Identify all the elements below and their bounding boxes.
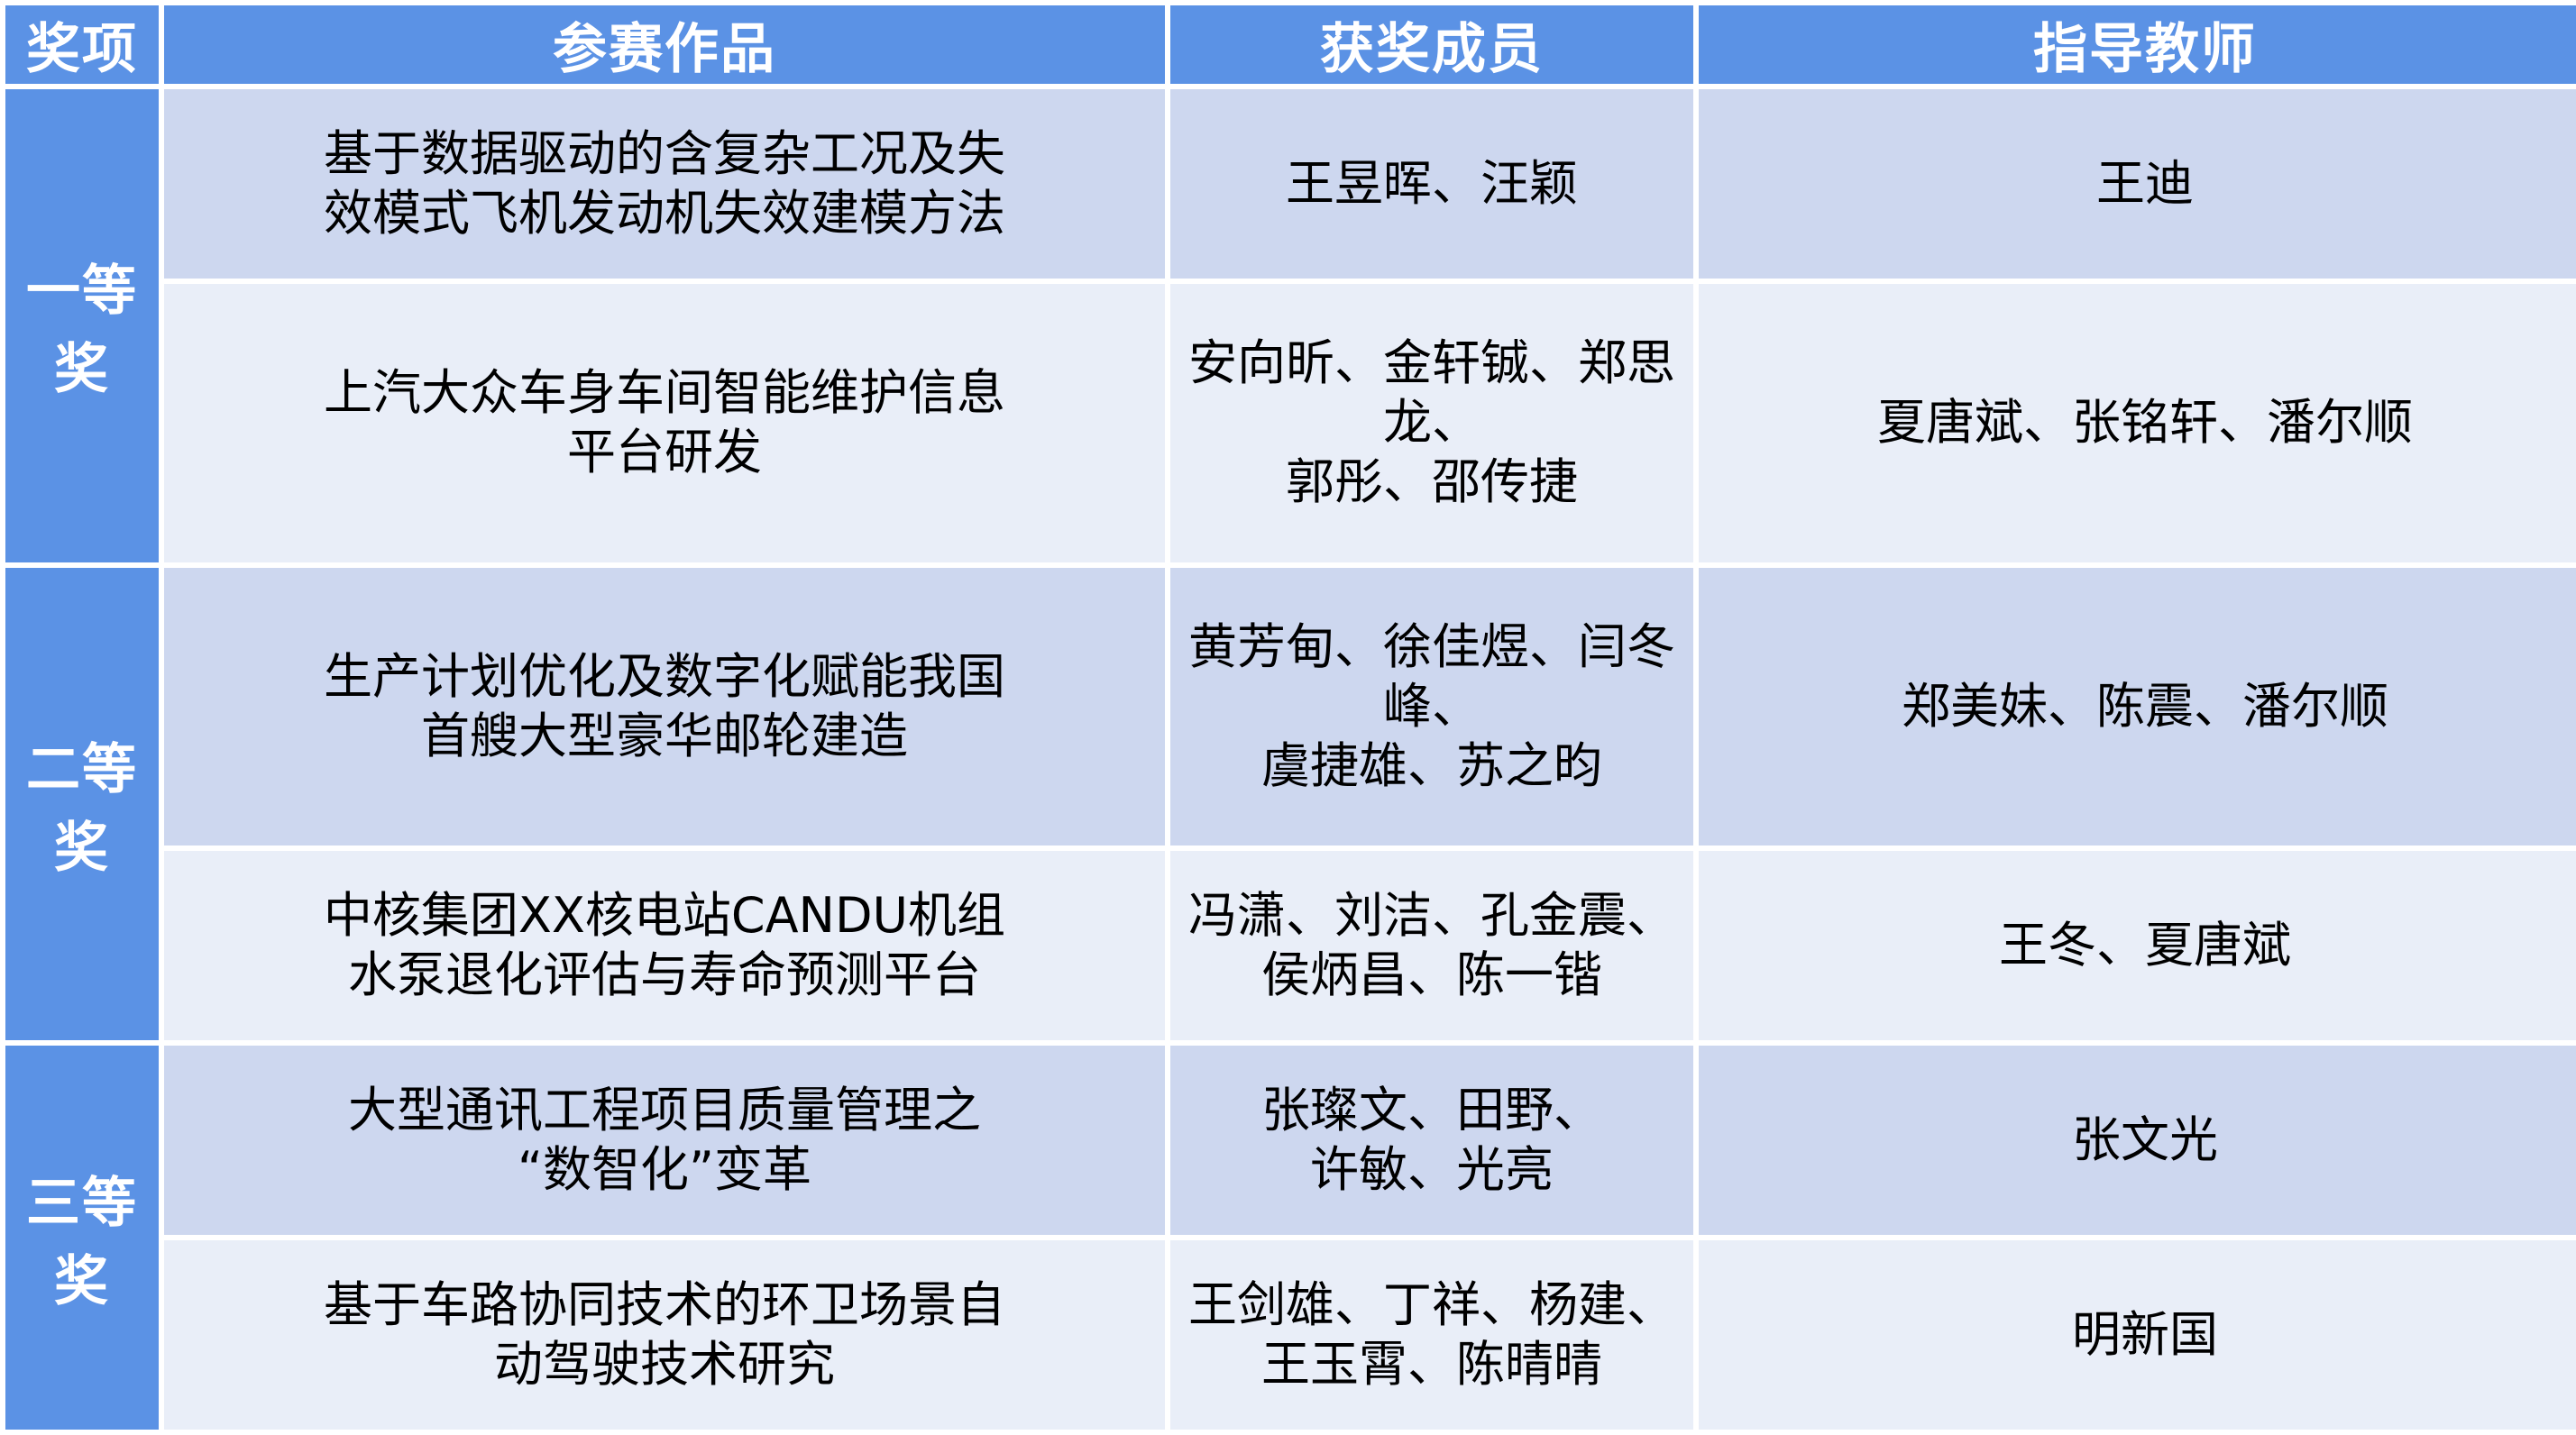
- members-cell: 王剑雄、丁祥、杨建、 王玉霄、陈晴晴: [1170, 1240, 1693, 1430]
- column-header-teacher: 指导教师: [1699, 5, 2576, 84]
- award-tier-cell: 一等奖: [5, 89, 159, 562]
- teacher-cell: 张文光: [1699, 1046, 2576, 1235]
- teacher-cell: 明新国: [1699, 1240, 2576, 1430]
- award-tier-cell: 二等奖: [5, 568, 159, 1041]
- award-results-table: 奖项 参赛作品 获奖成员 指导教师 一等奖 基于数据驱动的含复杂工况及失 效模式…: [0, 0, 2576, 1435]
- table-row: 三等奖 大型通讯工程项目质量管理之 “数智化”变革 张璨文、田野、 许敏、光亮 …: [5, 1046, 2576, 1235]
- table-row: 上汽大众车身车间智能维护信息 平台研发 安向昕、金轩铖、郑思龙、 郭彤、邵传捷 …: [5, 284, 2576, 562]
- work-title-cell: 生产计划优化及数字化赋能我国 首艘大型豪华邮轮建造: [164, 568, 1165, 846]
- teacher-cell: 郑美妹、陈震、潘尔顺: [1699, 568, 2576, 846]
- column-header-members: 获奖成员: [1170, 5, 1693, 84]
- table-row: 基于车路协同技术的环卫场景自 动驾驶技术研究 王剑雄、丁祥、杨建、 王玉霄、陈晴…: [5, 1240, 2576, 1430]
- work-title-cell: 基于数据驱动的含复杂工况及失 效模式飞机发动机失效建模方法: [164, 89, 1165, 279]
- teacher-cell: 王冬、夏唐斌: [1699, 851, 2576, 1040]
- column-header-work: 参赛作品: [164, 5, 1165, 84]
- award-tier-cell: 三等奖: [5, 1046, 159, 1430]
- members-cell: 安向昕、金轩铖、郑思龙、 郭彤、邵传捷: [1170, 284, 1693, 562]
- work-title-cell: 大型通讯工程项目质量管理之 “数智化”变革: [164, 1046, 1165, 1235]
- work-title-cell: 上汽大众车身车间智能维护信息 平台研发: [164, 284, 1165, 562]
- work-title-cell: 中核集团XX核电站CANDU机组 水泵退化评估与寿命预测平台: [164, 851, 1165, 1040]
- members-cell: 王昱晖、汪颖: [1170, 89, 1693, 279]
- teacher-cell: 王迪: [1699, 89, 2576, 279]
- table-row: 中核集团XX核电站CANDU机组 水泵退化评估与寿命预测平台 冯潇、刘洁、孔金震…: [5, 851, 2576, 1040]
- members-cell: 冯潇、刘洁、孔金震、 侯炳昌、陈一锴: [1170, 851, 1693, 1040]
- teacher-cell: 夏唐斌、张铭轩、潘尔顺: [1699, 284, 2576, 562]
- column-header-award: 奖项: [5, 5, 159, 84]
- members-cell: 张璨文、田野、 许敏、光亮: [1170, 1046, 1693, 1235]
- table-row: 一等奖 基于数据驱动的含复杂工况及失 效模式飞机发动机失效建模方法 王昱晖、汪颖…: [5, 89, 2576, 279]
- table-row: 二等奖 生产计划优化及数字化赋能我国 首艘大型豪华邮轮建造 黄芳甸、徐佳煜、闫冬…: [5, 568, 2576, 846]
- work-title-cell: 基于车路协同技术的环卫场景自 动驾驶技术研究: [164, 1240, 1165, 1430]
- table-header-row: 奖项 参赛作品 获奖成员 指导教师: [5, 5, 2576, 84]
- members-cell: 黄芳甸、徐佳煜、闫冬峰、 虞捷雄、苏之昀: [1170, 568, 1693, 846]
